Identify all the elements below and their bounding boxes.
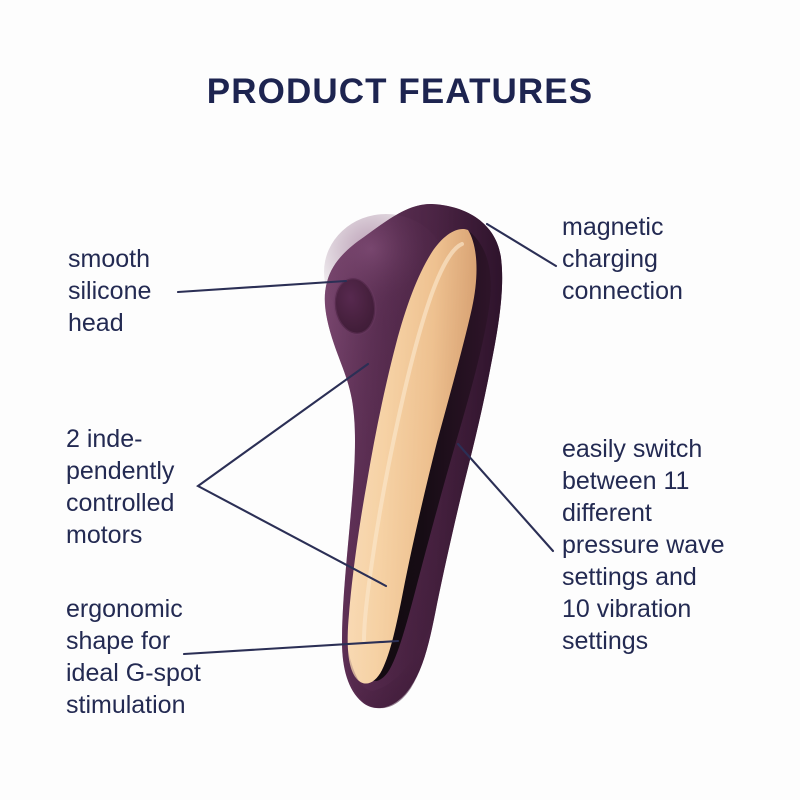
callout-independently-controlled-motors: 2 inde- pendently controlled motors	[66, 423, 271, 551]
callout-ergonomic-shape: ergonomic shape for ideal G-spot stimula…	[66, 593, 281, 721]
callout-smooth-silicone-head: smooth silicone head	[68, 243, 258, 339]
product-features-infographic: PRODUCT FEATURES	[0, 0, 800, 800]
callout-magnetic-charging-connection: magnetic charging connection	[562, 211, 787, 307]
leader-line-settings	[458, 444, 553, 551]
callout-pressure-wave-and-vibration-settings: easily switch between 11 different press…	[562, 433, 792, 657]
product-body-group	[324, 204, 502, 708]
